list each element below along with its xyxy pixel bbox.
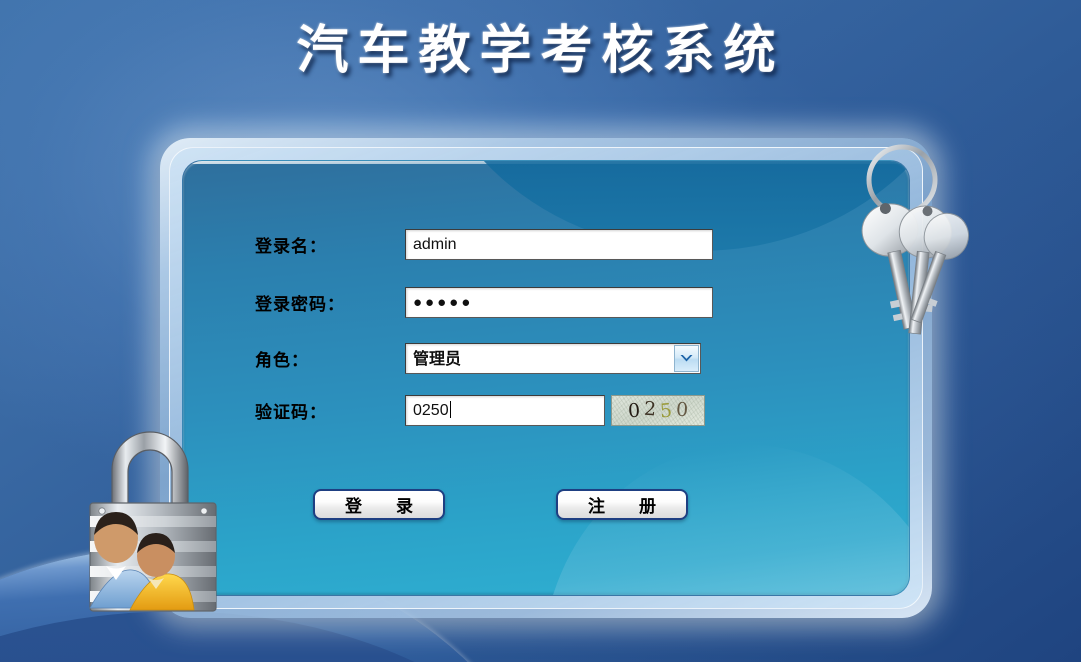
username-label: 登录名：: [255, 232, 405, 257]
field-row-password: 登录密码： ●●●●●: [255, 285, 713, 319]
captcha-digit: 0: [627, 400, 640, 423]
captcha-digit: 0: [676, 399, 689, 422]
register-button[interactable]: 注 册: [556, 489, 688, 520]
login-panel-body: 登录名： admin 登录密码： ●●●●● 角色： 管理员: [182, 160, 910, 596]
page-title: 汽车教学考核系统: [0, 8, 1081, 83]
padlock-users-icon: [72, 398, 242, 630]
chevron-down-icon: [679, 353, 694, 363]
password-label: 登录密码：: [255, 290, 405, 315]
captcha-image[interactable]: 0 2 5 0: [611, 395, 705, 426]
username-input[interactable]: admin: [405, 229, 713, 260]
keyring-icon: [845, 140, 985, 350]
field-row-captcha: 验证码： 0250 0 2 5 0: [255, 393, 705, 427]
text-cursor: [450, 401, 451, 418]
captcha-input-value: 0250: [413, 402, 449, 419]
login-form: 登录名： admin 登录密码： ●●●●● 角色： 管理员: [183, 161, 909, 595]
captcha-label: 验证码：: [255, 398, 405, 423]
password-input[interactable]: ●●●●●: [405, 287, 713, 318]
captcha-input[interactable]: 0250: [405, 395, 605, 426]
login-panel: 登录名： admin 登录密码： ●●●●● 角色： 管理员: [160, 138, 932, 618]
role-select-button[interactable]: [674, 345, 699, 372]
login-page: 汽车教学考核系统 登录名： admin 登录密码： ●●●●● 角色：: [0, 0, 1081, 662]
captcha-digit: 5: [659, 400, 673, 423]
role-select-value: 管理员: [413, 344, 461, 375]
role-select[interactable]: 管理员: [405, 343, 701, 374]
captcha-digit: 2: [643, 398, 657, 421]
role-label: 角色：: [255, 346, 405, 371]
login-button[interactable]: 登 录: [313, 489, 445, 520]
form-actions: 登 录 注 册: [183, 489, 909, 523]
field-row-username: 登录名： admin: [255, 227, 713, 261]
field-row-role: 角色： 管理员: [255, 341, 701, 375]
